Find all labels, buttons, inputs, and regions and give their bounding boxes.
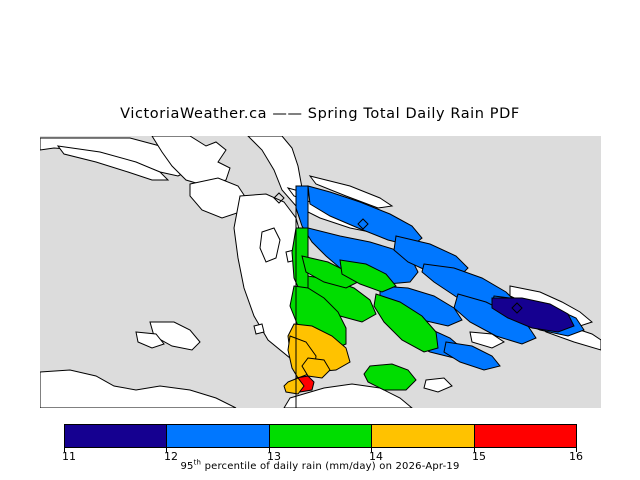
colorbar-segments[interactable] — [64, 424, 577, 448]
colorbar-segment-15-16[interactable] — [474, 425, 576, 447]
water-small-lake-3 — [254, 324, 264, 334]
weather-map-figure: VictoriaWeather.ca —— Spring Total Daily… — [0, 0, 640, 480]
page-title: VictoriaWeather.ca —— Spring Total Daily… — [0, 106, 640, 122]
colorbar-segment-14-15[interactable] — [371, 425, 473, 447]
caption-rest: percentile of daily rain (mm/day) on 202… — [201, 461, 459, 472]
colorbar-segment-12-13[interactable] — [166, 425, 268, 447]
colorbar-segment-11-12[interactable] — [65, 425, 166, 447]
caption-percentile-number: 95 — [180, 461, 193, 472]
colorbar-segment-13-14[interactable] — [269, 425, 371, 447]
map-panel[interactable] — [40, 136, 601, 408]
colorbar-caption: 95th percentile of daily rain (mm/day) o… — [0, 461, 640, 472]
colorbar[interactable] — [64, 424, 577, 448]
map-svg — [40, 136, 601, 408]
